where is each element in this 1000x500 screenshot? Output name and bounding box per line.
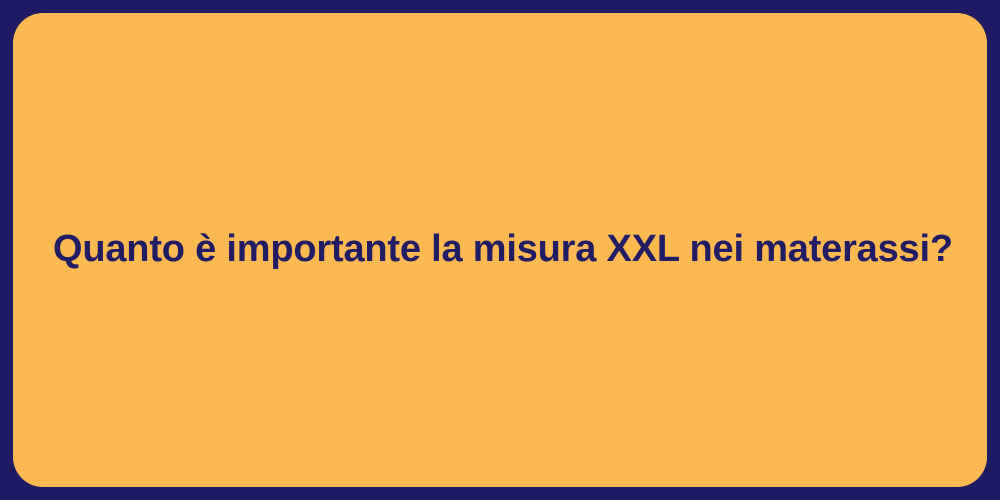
page-title: Quanto è importante la misura XXL nei ma… <box>13 226 987 274</box>
headline-card: Quanto è importante la misura XXL nei ma… <box>13 13 987 487</box>
banner-container: Quanto è importante la misura XXL nei ma… <box>0 0 1000 500</box>
